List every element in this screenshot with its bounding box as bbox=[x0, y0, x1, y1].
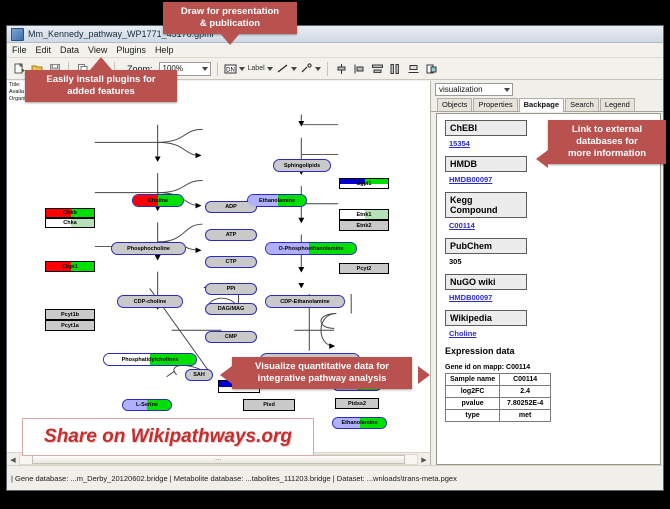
node-label: CTP bbox=[226, 259, 237, 265]
expression-table: Sample name C00114 log2FC 2.4 pvalue 7.8… bbox=[445, 373, 551, 422]
metabolite-node-sah[interactable]: SAH bbox=[185, 369, 213, 381]
metabolite-node-ppi[interactable]: PPi bbox=[205, 283, 257, 295]
table-row: Sample name C00114 bbox=[446, 374, 551, 386]
metabolite-node-ctp[interactable]: CTP bbox=[205, 256, 257, 268]
gene-node-etnk2[interactable]: Etnk2 bbox=[339, 220, 389, 231]
menu-item-data[interactable]: Data bbox=[60, 45, 79, 55]
visualization-value: visualization bbox=[439, 85, 483, 94]
node-label: ATP bbox=[226, 232, 237, 238]
gene-node-pcyt2[interactable]: Pcyt2 bbox=[339, 263, 389, 274]
expr-key-pvalue: pvalue bbox=[446, 398, 500, 410]
db-header-kegg-compound: Kegg Compound bbox=[445, 192, 527, 218]
toolbar-separator-3 bbox=[217, 62, 218, 76]
metabolite-node-cmp[interactable]: CMP bbox=[205, 331, 257, 343]
chevron-down-icon bbox=[504, 88, 510, 92]
tab-properties[interactable]: Properties bbox=[473, 98, 517, 111]
stack-bottom-icon[interactable] bbox=[406, 61, 421, 76]
align-center-icon[interactable] bbox=[334, 61, 349, 76]
metabolite-node-ethanolamine[interactable]: Ethanolamine bbox=[247, 194, 307, 207]
node-label: DAG/MAG bbox=[218, 306, 245, 312]
callout-links: Link to externaldatabases formore inform… bbox=[548, 120, 666, 164]
gene-node-chka[interactable]: Chka bbox=[45, 218, 95, 228]
node-label: Etnk2 bbox=[357, 223, 372, 229]
expression-data-title: Expression data bbox=[445, 346, 660, 356]
expr-val-log2fc: 2.4 bbox=[500, 386, 551, 398]
title-bar: Mm_Kennedy_pathway_WP1771_45176.gpml bbox=[7, 26, 663, 43]
scroll-right-icon[interactable]: ▶ bbox=[418, 454, 430, 466]
node-label: O-Phosphoethanolamine bbox=[278, 246, 343, 252]
chevron-down-icon bbox=[202, 67, 208, 71]
scroll-left-icon[interactable]: ◀ bbox=[7, 454, 19, 466]
gene-node-chkb[interactable]: Chkb bbox=[45, 208, 95, 218]
hscroll-thumb[interactable]: ⋯ bbox=[32, 455, 405, 464]
gene-node-etnk1[interactable]: Etnk1 bbox=[339, 209, 389, 220]
node-label: Phosphatidylcholines bbox=[122, 357, 179, 363]
chevron-down-icon bbox=[239, 67, 245, 71]
distribute-vertical-icon[interactable] bbox=[370, 61, 385, 76]
new-icon[interactable] bbox=[11, 61, 26, 76]
arrow-tool[interactable] bbox=[300, 63, 321, 75]
distribute-horizontal-icon[interactable] bbox=[388, 61, 403, 76]
expr-val-pvalue: 7.80252E-4 bbox=[500, 398, 551, 410]
callout-plugins-arrow-icon bbox=[90, 57, 112, 70]
callout-visualize-arrow-right-icon bbox=[418, 366, 430, 384]
node-label: Chka bbox=[63, 220, 76, 226]
canvas-meta-title: Title: bbox=[9, 82, 26, 89]
metabolite-node-phosphocholine[interactable]: Phosphocholine bbox=[111, 242, 186, 255]
pathway-canvas[interactable]: Title: Availa Organi bbox=[7, 81, 430, 453]
node-label: Chpt1 bbox=[62, 264, 78, 270]
expr-key-log2fc: log2FC bbox=[446, 386, 500, 398]
canvas-meta: Title: Availa Organi bbox=[9, 82, 26, 103]
tab-objects[interactable]: Objects bbox=[437, 98, 472, 111]
metabolite-node-o-phosphoethanolamine[interactable]: O-Phosphoethanolamine bbox=[265, 242, 357, 255]
node-label: CMP bbox=[225, 334, 237, 340]
metabolite-node-l-serine[interactable]: L-Serine bbox=[122, 399, 172, 411]
expr-val-sample-name: C00114 bbox=[500, 374, 551, 386]
callout-draw: Draw for presentation& publication bbox=[163, 2, 297, 34]
gene-node-sgpl1[interactable]: Sgpl1 bbox=[339, 178, 389, 189]
db-header-nugo-wiki: NuGO wiki bbox=[445, 274, 527, 290]
metabolite-node-ethanolamine[interactable]: Ethanolamine bbox=[332, 417, 387, 429]
chevron-down-icon bbox=[267, 67, 273, 71]
node-label: Chkb bbox=[63, 210, 77, 216]
node-label: Ptdss2 bbox=[348, 401, 366, 407]
table-row: pvalue 7.80252E-4 bbox=[446, 398, 551, 410]
callout-share-text: Share on Wikipathways.org bbox=[44, 426, 292, 448]
screenshot-root: Mm_Kennedy_pathway_WP1771_45176.gpml Fil… bbox=[0, 0, 670, 509]
callout-share: Share on Wikipathways.org bbox=[22, 418, 314, 456]
expr-key-type: type bbox=[446, 410, 500, 422]
db-link-kegg-compound[interactable]: C00114 bbox=[449, 221, 660, 230]
metabolite-node-choline[interactable]: Choline bbox=[132, 194, 184, 207]
table-row: type met bbox=[446, 410, 551, 422]
node-label: Sgpl1 bbox=[357, 181, 372, 187]
db-link-wikipedia[interactable]: Choline bbox=[449, 329, 660, 338]
node-label: PPi bbox=[227, 286, 236, 292]
callout-links-arrow-icon bbox=[536, 150, 548, 168]
gene-node-pcyt1a[interactable]: Pcyt1a bbox=[45, 320, 95, 331]
node-label: Phosphocholine bbox=[127, 246, 170, 252]
callout-visualize: Visualize quantitative data forintegrati… bbox=[232, 357, 412, 389]
expr-val-type: met bbox=[500, 410, 551, 422]
canvas-meta-availability: Availa bbox=[9, 89, 26, 96]
menu-bar: File Edit Data View Plugins Help bbox=[7, 43, 663, 58]
node-label: Ethanolamine bbox=[259, 198, 295, 204]
node-label: Pcyt1b bbox=[61, 312, 79, 318]
node-label: SAH bbox=[193, 372, 205, 378]
db-link-hmdb[interactable]: HMDB00097 bbox=[449, 175, 660, 184]
metabolite-node-dag-mag[interactable]: DAG/MAG bbox=[205, 303, 257, 315]
svg-text:DN: DN bbox=[226, 67, 235, 73]
expr-key-sample-name: Sample name bbox=[446, 374, 500, 386]
sidebar-tabs: Objects Properties Backpage Search Legen… bbox=[431, 98, 663, 112]
callout-plugins: Easily install plugins foradded features bbox=[25, 70, 177, 102]
node-label: CDP-choline bbox=[134, 299, 167, 305]
tab-search[interactable]: Search bbox=[565, 98, 599, 111]
menu-item-file[interactable]: File bbox=[12, 45, 27, 55]
menu-item-help[interactable]: Help bbox=[155, 45, 174, 55]
app-icon bbox=[11, 28, 24, 41]
gene-node-chpt1[interactable]: Chpt1 bbox=[45, 261, 95, 272]
line-tool[interactable] bbox=[276, 63, 297, 75]
gene-node-ptdss2[interactable]: Ptdss2 bbox=[335, 398, 379, 409]
table-row: log2FC 2.4 bbox=[446, 386, 551, 398]
canvas-meta-organism: Organi bbox=[9, 96, 26, 103]
chevron-down-icon bbox=[315, 67, 321, 71]
node-label: CDP-Ethanolamine bbox=[280, 299, 330, 305]
node-label: Choline bbox=[148, 198, 168, 204]
tab-backpage[interactable]: Backpage bbox=[519, 98, 564, 112]
menu-item-view[interactable]: View bbox=[88, 45, 107, 55]
metabolite-node-sphingolipids[interactable]: Sphingolipids bbox=[273, 159, 331, 172]
menu-item-edit[interactable]: Edit bbox=[36, 45, 52, 55]
callout-visualize-arrow-icon bbox=[220, 366, 232, 384]
menu-item-plugins[interactable]: Plugins bbox=[116, 45, 146, 55]
label-tool-text: Label bbox=[248, 65, 265, 72]
status-text: | Gene database: ...m_Derby_20120602.bri… bbox=[7, 474, 457, 483]
backpage-panel: ChEBI 15354 HMDB HMDB00097 Kegg Compound… bbox=[436, 113, 661, 465]
metabolite-node-cdp-ethanolamine[interactable]: CDP-Ethanolamine bbox=[265, 295, 345, 308]
db-header-hmdb: HMDB bbox=[445, 156, 527, 172]
pathway-canvas-area: Title: Availa Organi bbox=[7, 81, 431, 466]
label-tool[interactable]: Label bbox=[248, 65, 273, 72]
node-label: Ethanolamine bbox=[341, 420, 377, 426]
metabolite-node-cdp-choline[interactable]: CDP-choline bbox=[117, 295, 183, 308]
callout-draw-arrow-icon bbox=[219, 32, 241, 45]
status-bar: | Gene database: ...m_Derby_20120602.bri… bbox=[7, 465, 663, 490]
gene-id-label: Gene id on mapp: C00114 bbox=[445, 364, 660, 371]
node-label: Sphingolipids bbox=[284, 163, 320, 169]
gene-node-pisd[interactable]: Pisd bbox=[243, 399, 295, 411]
datanode-tool[interactable]: DN bbox=[224, 63, 245, 75]
gene-node-pcyt1b[interactable]: Pcyt1b bbox=[45, 309, 95, 320]
db-link-nugo-wiki[interactable]: HMDB00097 bbox=[449, 293, 660, 302]
db-header-chebi: ChEBI bbox=[445, 120, 527, 136]
node-label: Pcyt2 bbox=[357, 266, 372, 272]
db-header-pubchem: PubChem bbox=[445, 238, 527, 254]
db-header-wikipedia: Wikipedia bbox=[445, 310, 527, 326]
chevron-down-icon bbox=[291, 67, 297, 71]
toolbar-separator-4 bbox=[327, 62, 328, 76]
metabolite-node-atp[interactable]: ATP bbox=[205, 229, 257, 241]
metabolite-node-phosphatidylcholines[interactable]: Phosphatidylcholines bbox=[103, 353, 197, 366]
node-label: Etnk1 bbox=[357, 212, 372, 218]
visualization-row: visualization bbox=[431, 81, 663, 98]
node-label: L-Serine bbox=[136, 402, 158, 408]
bring-to-front-icon[interactable] bbox=[424, 61, 439, 76]
align-left-icon[interactable] bbox=[352, 61, 367, 76]
node-label: Pisd bbox=[263, 402, 275, 408]
node-label: ADP bbox=[225, 204, 237, 210]
visualization-combobox[interactable]: visualization bbox=[435, 83, 513, 96]
tab-legend[interactable]: Legend bbox=[600, 98, 635, 111]
node-label: Pcyt1a bbox=[61, 323, 79, 329]
db-value-pubchem: 305 bbox=[449, 257, 660, 266]
